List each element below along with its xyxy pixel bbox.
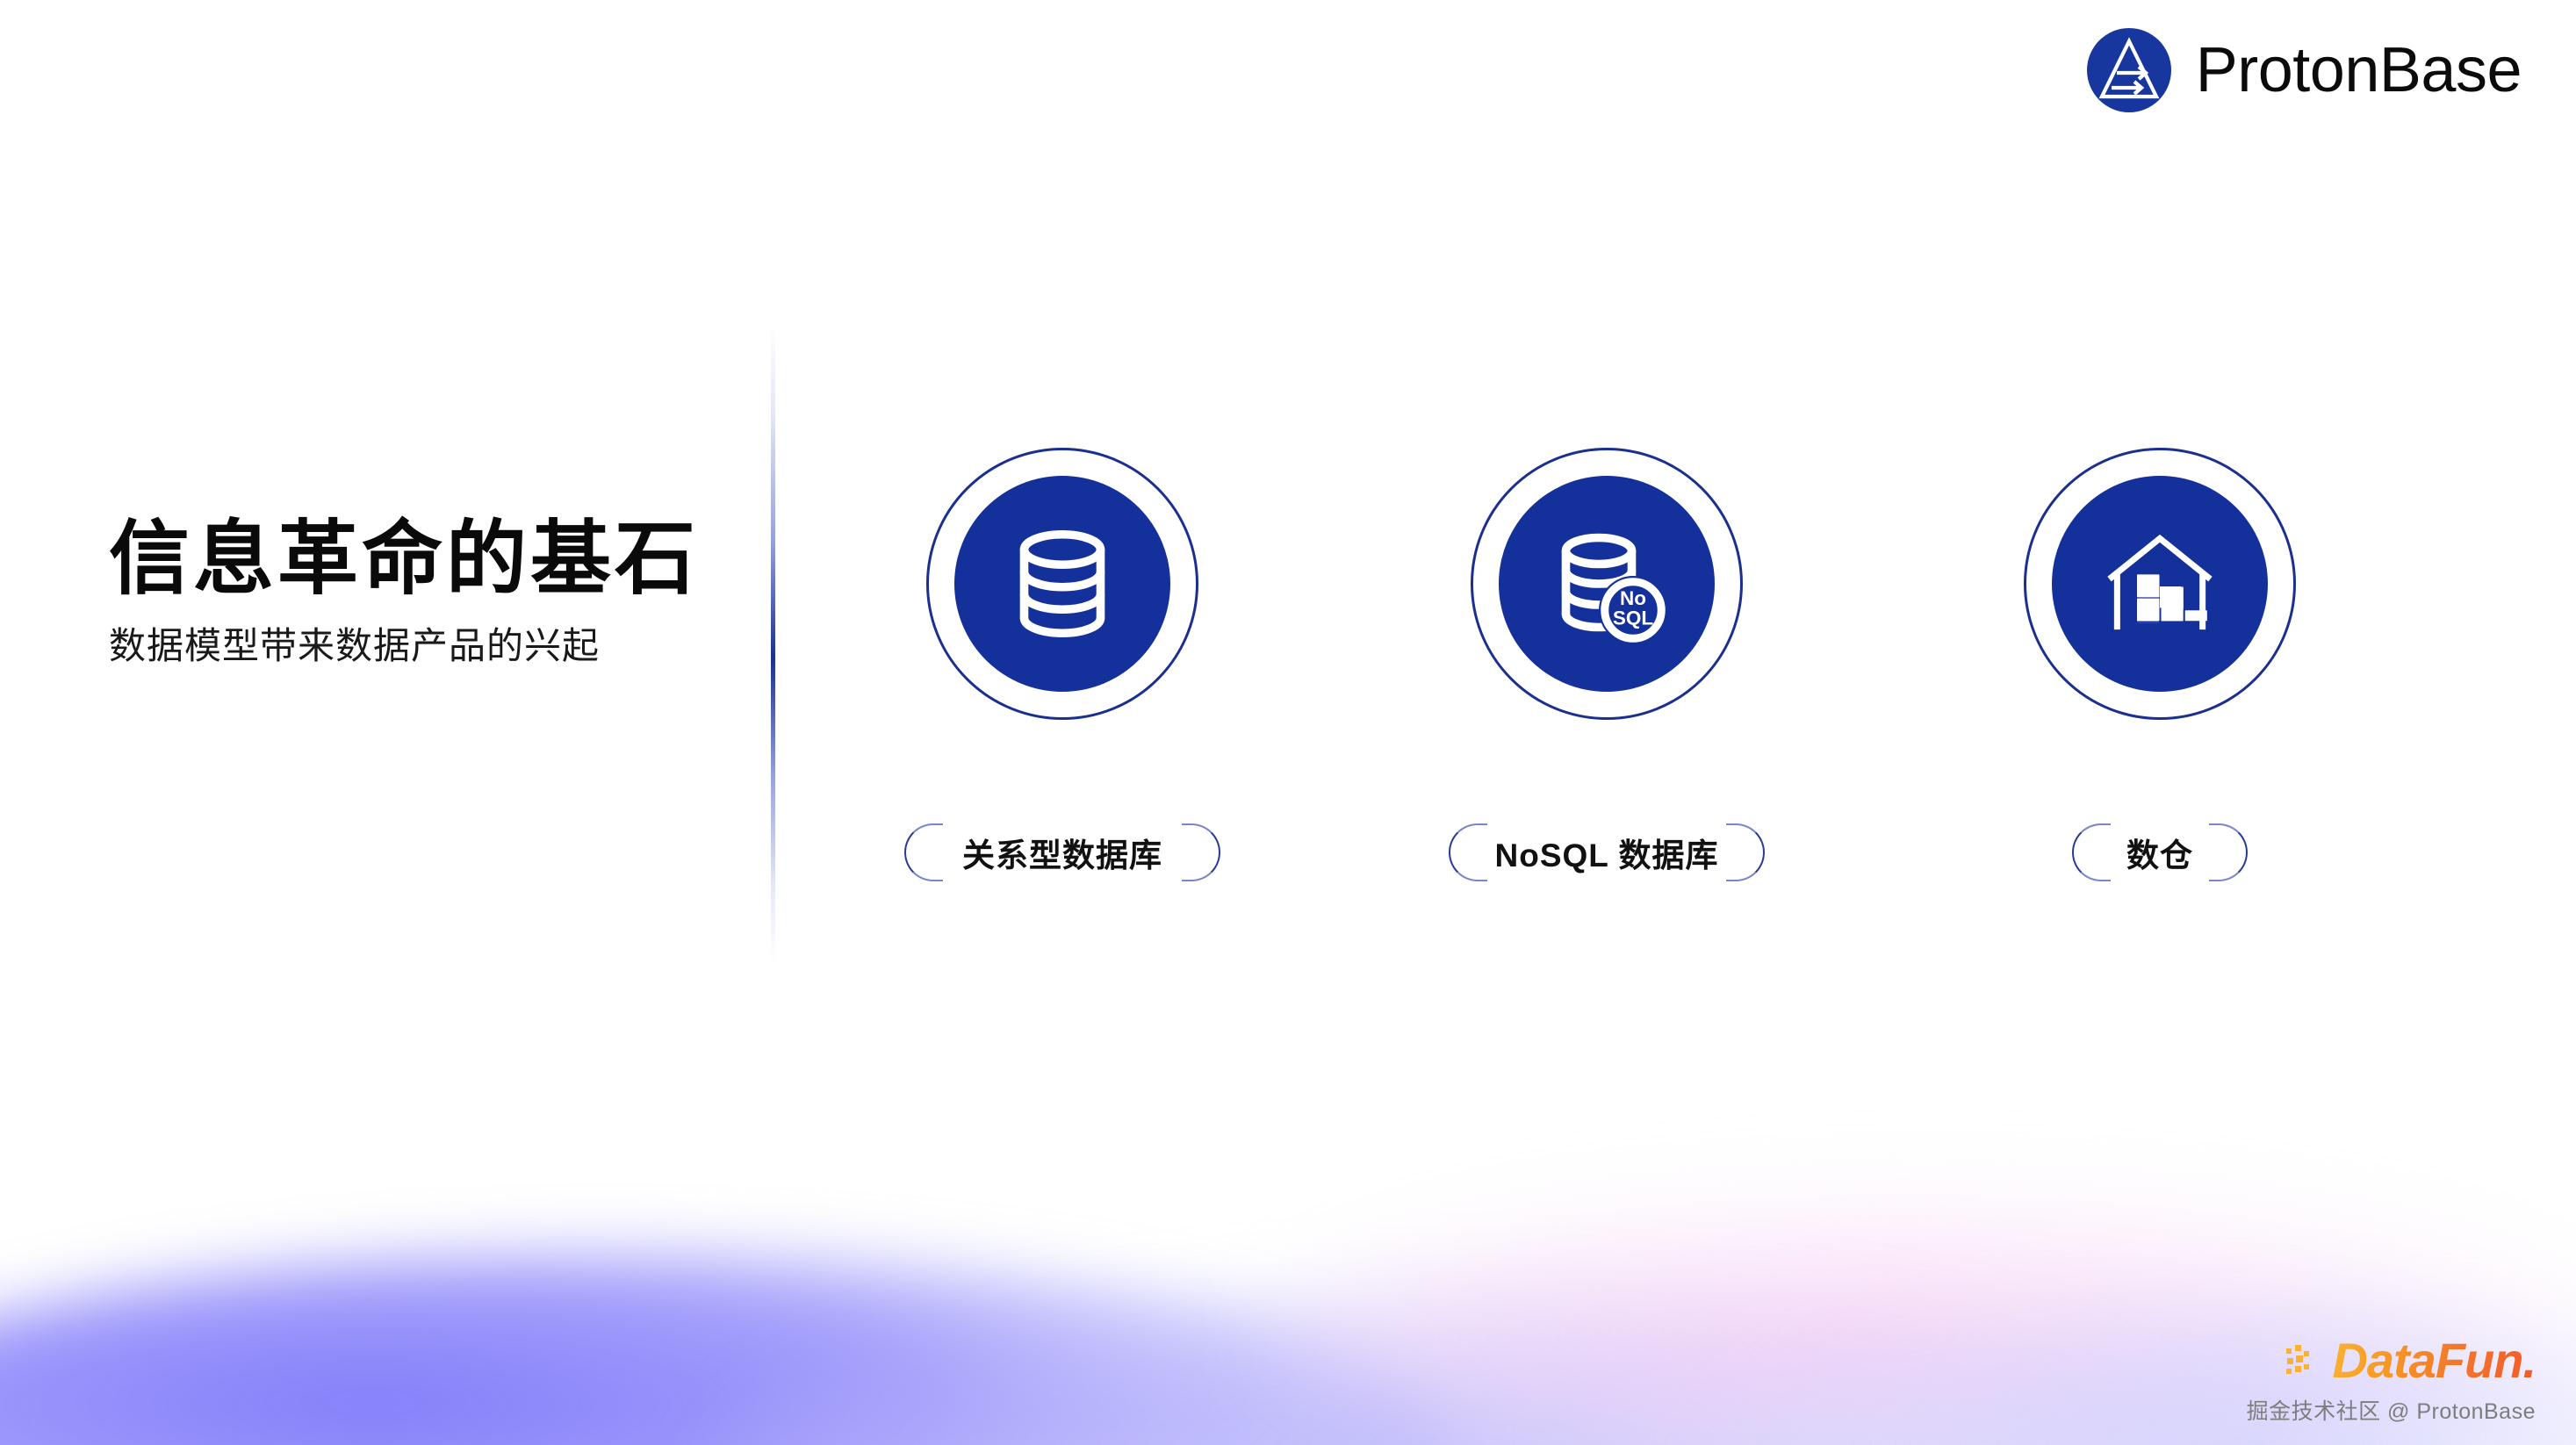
icon-ring: No SQL [1471, 448, 1743, 720]
icon-ring [2024, 448, 2296, 720]
pill-arc-right-icon [1726, 823, 1765, 881]
icon-ring [926, 448, 1198, 720]
concept-card-data-warehouse[interactable]: 数仓 [1993, 448, 2327, 881]
icon-disc [954, 476, 1170, 692]
slide-canvas: ProtonBase 信息革命的基石 数据模型带来数据产品的兴起 [0, 0, 2576, 1445]
nosql-badge-line2: SQL [1613, 607, 1654, 629]
icon-disc [2052, 476, 2268, 692]
datafun-dots-icon [2285, 1340, 2327, 1382]
database-cylinder-icon [997, 518, 1128, 650]
datafun-watermark: DataFun. 掘金技术社区 @ ProtonBase [2247, 1336, 2536, 1426]
pill-arc-right-icon [2209, 823, 2248, 881]
page-title: 信息革命的基石 [109, 516, 715, 603]
protonbase-logo-icon [2085, 26, 2173, 114]
pill-arc-right-icon [1182, 823, 1220, 881]
card-label: 关系型数据库 [962, 829, 1162, 876]
wave-blob-violet-left [0, 1252, 1457, 1445]
concept-card-nosql-database[interactable]: No SQL NoSQL 数据库 [1440, 448, 1774, 881]
icon-disc: No SQL [1499, 476, 1715, 692]
brand-header: ProtonBase [2085, 26, 2522, 114]
background-wave-decoration [0, 1076, 2576, 1445]
datafun-wordmark: DataFun. [2332, 1336, 2536, 1385]
card-label: 数仓 [2126, 829, 2193, 876]
concept-card-list: 关系型数据库 [896, 448, 2371, 939]
data-warehouse-icon [2093, 517, 2227, 651]
watermark-caption: 掘金技术社区 @ ProtonBase [2247, 1394, 2536, 1426]
pill-arc-left-icon [1449, 823, 1487, 881]
pill-arc-left-icon [904, 823, 943, 881]
datafun-logo: DataFun. [2285, 1336, 2536, 1385]
card-label-pill: NoSQL 数据库 [1449, 823, 1765, 881]
card-label-pill: 关系型数据库 [904, 823, 1220, 881]
card-label: NoSQL 数据库 [1495, 829, 1719, 876]
headline-block: 信息革命的基石 数据模型带来数据产品的兴起 [109, 516, 715, 669]
nosql-database-icon: No SQL [1541, 518, 1673, 650]
concept-card-relational-database[interactable]: 关系型数据库 [896, 448, 1229, 881]
nosql-badge-line1: No [1620, 587, 1646, 609]
card-label-pill: 数仓 [2072, 823, 2248, 881]
brand-name: ProtonBase [2196, 39, 2522, 102]
wave-blob-violet-center [720, 1296, 2213, 1445]
pill-arc-left-icon [2072, 823, 2111, 881]
page-subtitle: 数据模型带来数据产品的兴起 [109, 624, 715, 668]
vertical-gradient-divider [771, 325, 775, 966]
